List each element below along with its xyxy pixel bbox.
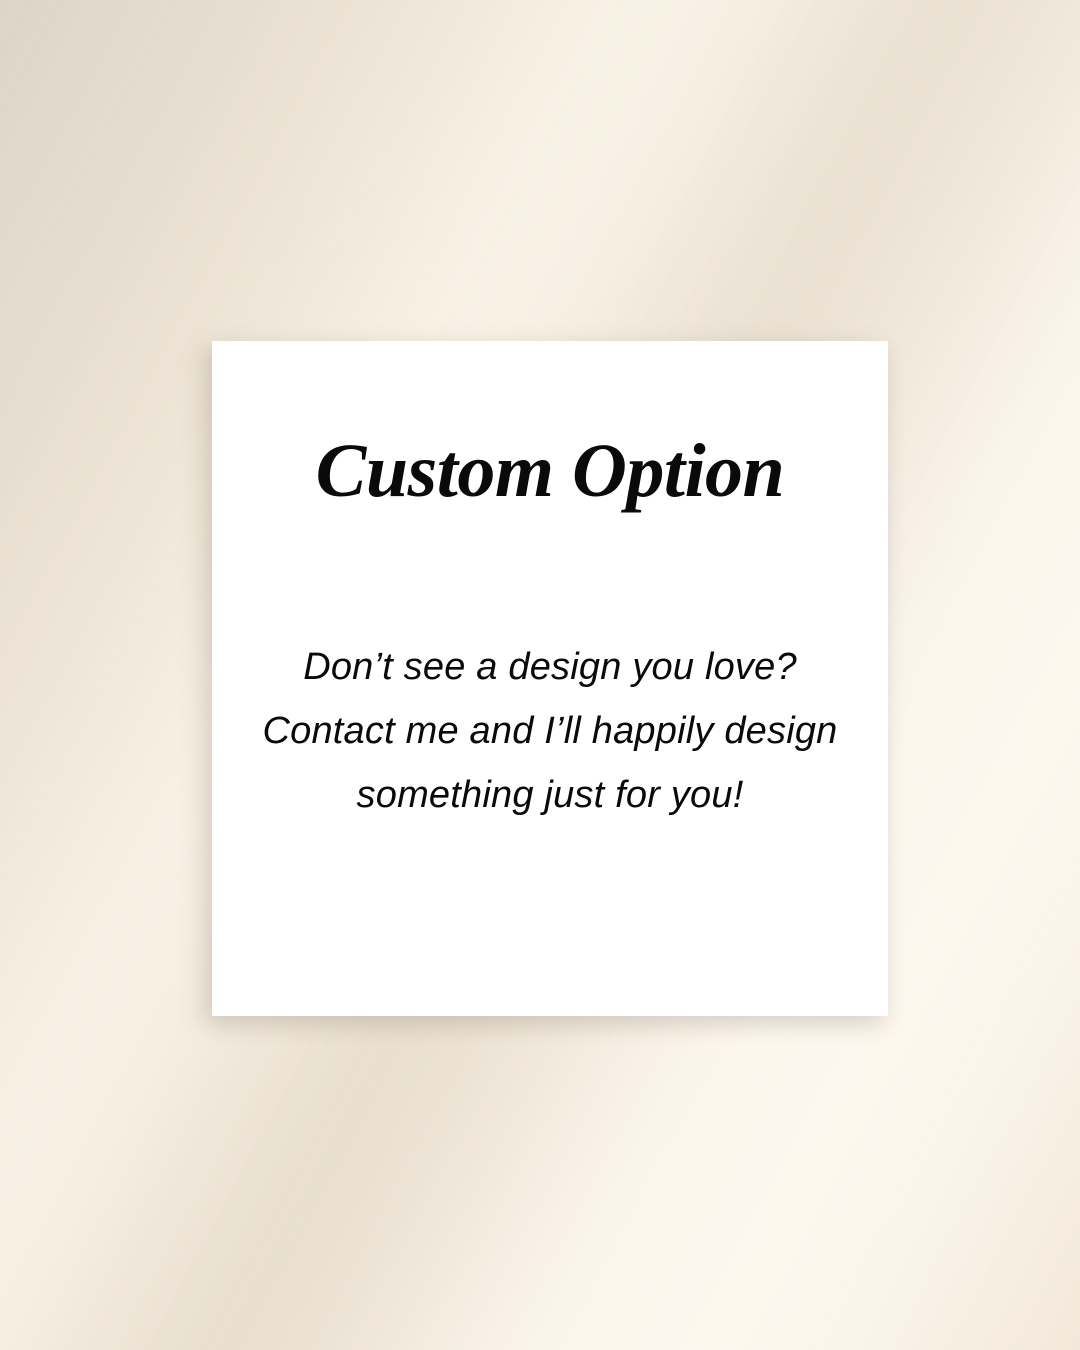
card-body-text: Don’t see a design you love? Contact me … [220, 635, 880, 827]
note-card: Custom Option Don’t see a design you lov… [212, 341, 888, 1016]
body-line-1: Don’t see a design you love? [220, 635, 880, 699]
page-title: Custom Option [212, 433, 888, 509]
washi-tape-shape [372, 252, 728, 394]
body-line-3: something just for you! [220, 763, 880, 827]
body-line-2: Contact me and I’ll happily design [220, 699, 880, 763]
poster-canvas: Custom Option Don’t see a design you lov… [0, 0, 1080, 1350]
washi-tape-upper [378, 258, 710, 384]
washi-tape [372, 252, 728, 394]
washi-tape-lower [378, 258, 710, 384]
